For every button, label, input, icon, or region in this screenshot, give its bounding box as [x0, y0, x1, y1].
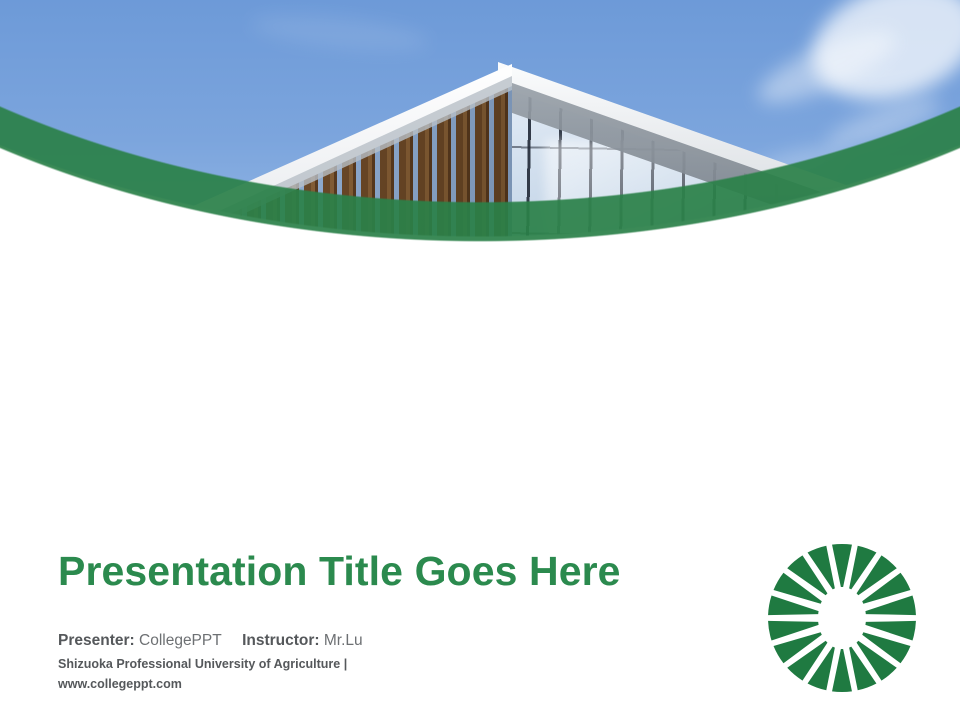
roof-notch — [166, 302, 213, 322]
instructor-label: Instructor: — [242, 632, 320, 649]
window — [46, 332, 59, 372]
window — [98, 326, 111, 366]
window — [72, 329, 85, 369]
column — [545, 380, 564, 500]
roof-notch — [62, 312, 109, 332]
window — [124, 323, 137, 363]
presenter-name: CollegePPT — [139, 632, 221, 649]
page-title: Presentation Title Goes Here — [58, 548, 621, 595]
organization-line: Shizuoka Professional University of Agri… — [58, 657, 363, 671]
glass-door — [710, 264, 760, 338]
column — [760, 380, 779, 500]
roof-notch — [218, 297, 265, 317]
roof-notch — [114, 307, 161, 327]
hero-photo — [0, 0, 960, 500]
column — [868, 380, 887, 500]
interior-highlight — [700, 400, 746, 436]
window — [176, 317, 189, 357]
instructor-name: Mr.Lu — [324, 632, 363, 649]
presenter-label: Presenter: — [58, 632, 135, 649]
presenter-instructor-line: Presenter: CollegePPT Instructor: Mr.Lu — [58, 632, 363, 650]
radial-burst-logo — [762, 538, 922, 698]
logo-spoke — [832, 544, 852, 587]
presentation-title-slide: Presentation Title Goes Here Presenter: … — [0, 0, 960, 720]
interior-highlight — [392, 420, 452, 466]
slide-meta: Presenter: CollegePPT Instructor: Mr.Lu … — [58, 632, 363, 691]
window — [150, 320, 163, 360]
roof-notch — [10, 317, 57, 337]
website-line: www.collegeppt.com — [58, 677, 363, 691]
interior-highlight — [600, 408, 672, 448]
logo-spoke — [832, 649, 852, 692]
building-photo — [0, 0, 960, 500]
